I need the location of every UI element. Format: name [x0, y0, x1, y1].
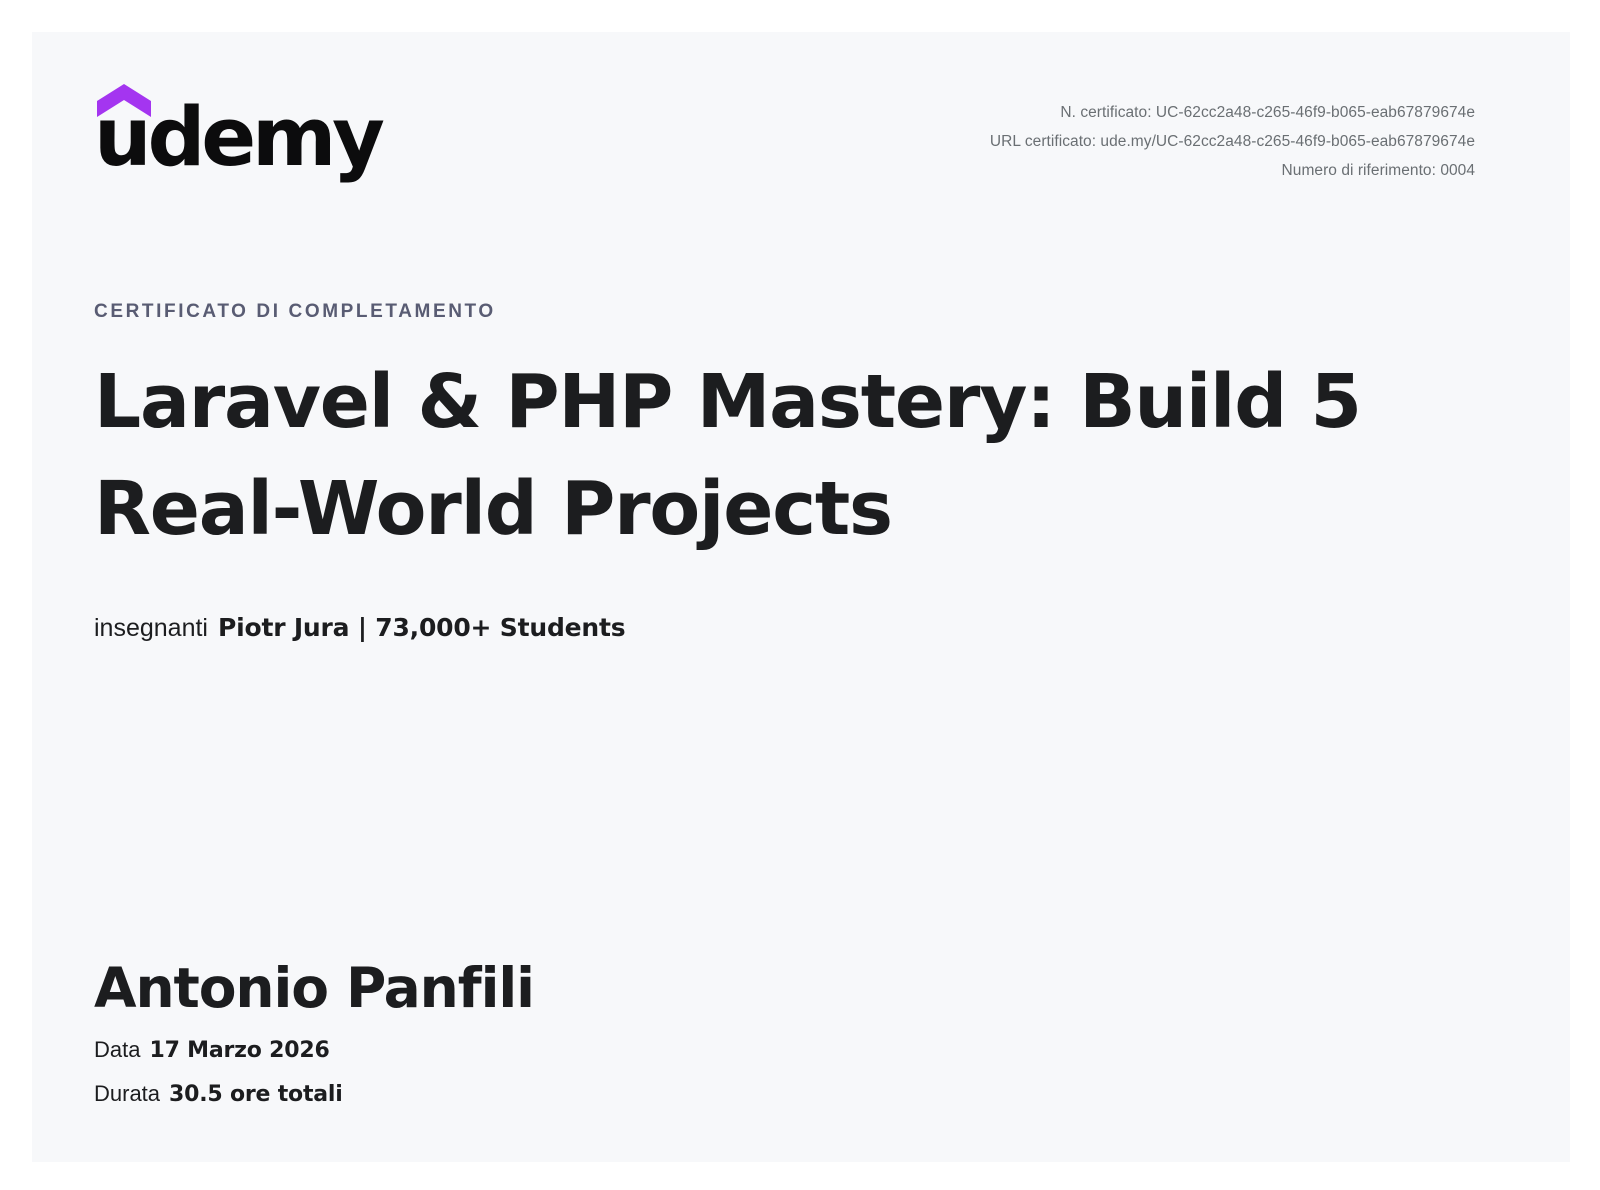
duration-row: Durata30.5 ore totali — [94, 1079, 1094, 1110]
udemy-logo: udemy — [94, 84, 364, 189]
certificate-body: CERTIFICATO DI COMPLETAMENTO Laravel & P… — [94, 202, 1508, 643]
certificate-eyebrow: CERTIFICATO DI COMPLETAMENTO — [94, 302, 1508, 321]
date-row: Data17 Marzo 2026 — [94, 1035, 1094, 1066]
instructors-row: insegnantiPiotr Jura | 73,000+ Students — [94, 613, 1508, 643]
date-value: 17 Marzo 2026 — [149, 1038, 329, 1063]
recipient-name: Antonio Panfili — [94, 957, 1094, 1020]
certificate-url-line: URL certificato: ude.my/UC-62cc2a48-c265… — [990, 127, 1475, 156]
date-label: Data — [94, 1037, 140, 1062]
certificate-page: udemy N. certificato: UC-62cc2a48-c265-4… — [32, 32, 1570, 1162]
certificate-header: udemy N. certificato: UC-62cc2a48-c265-4… — [32, 32, 1570, 202]
reference-number-line: Numero di riferimento: 0004 — [990, 156, 1475, 185]
certificate-number-line: N. certificato: UC-62cc2a48-c265-46f9-b0… — [990, 98, 1475, 127]
recipient-block: Antonio Panfili Data17 Marzo 2026 Durata… — [94, 957, 1094, 1110]
certificate-metadata: N. certificato: UC-62cc2a48-c265-46f9-b0… — [990, 98, 1475, 185]
instructors-names: Piotr Jura | 73,000+ Students — [218, 613, 625, 642]
duration-label: Durata — [94, 1081, 160, 1106]
instructors-label: insegnanti — [94, 614, 208, 642]
duration-value: 30.5 ore totali — [169, 1082, 343, 1107]
udemy-wordmark: udemy — [94, 98, 381, 179]
course-title: Laravel & PHP Mastery: Build 5 Real-Worl… — [94, 349, 1494, 563]
